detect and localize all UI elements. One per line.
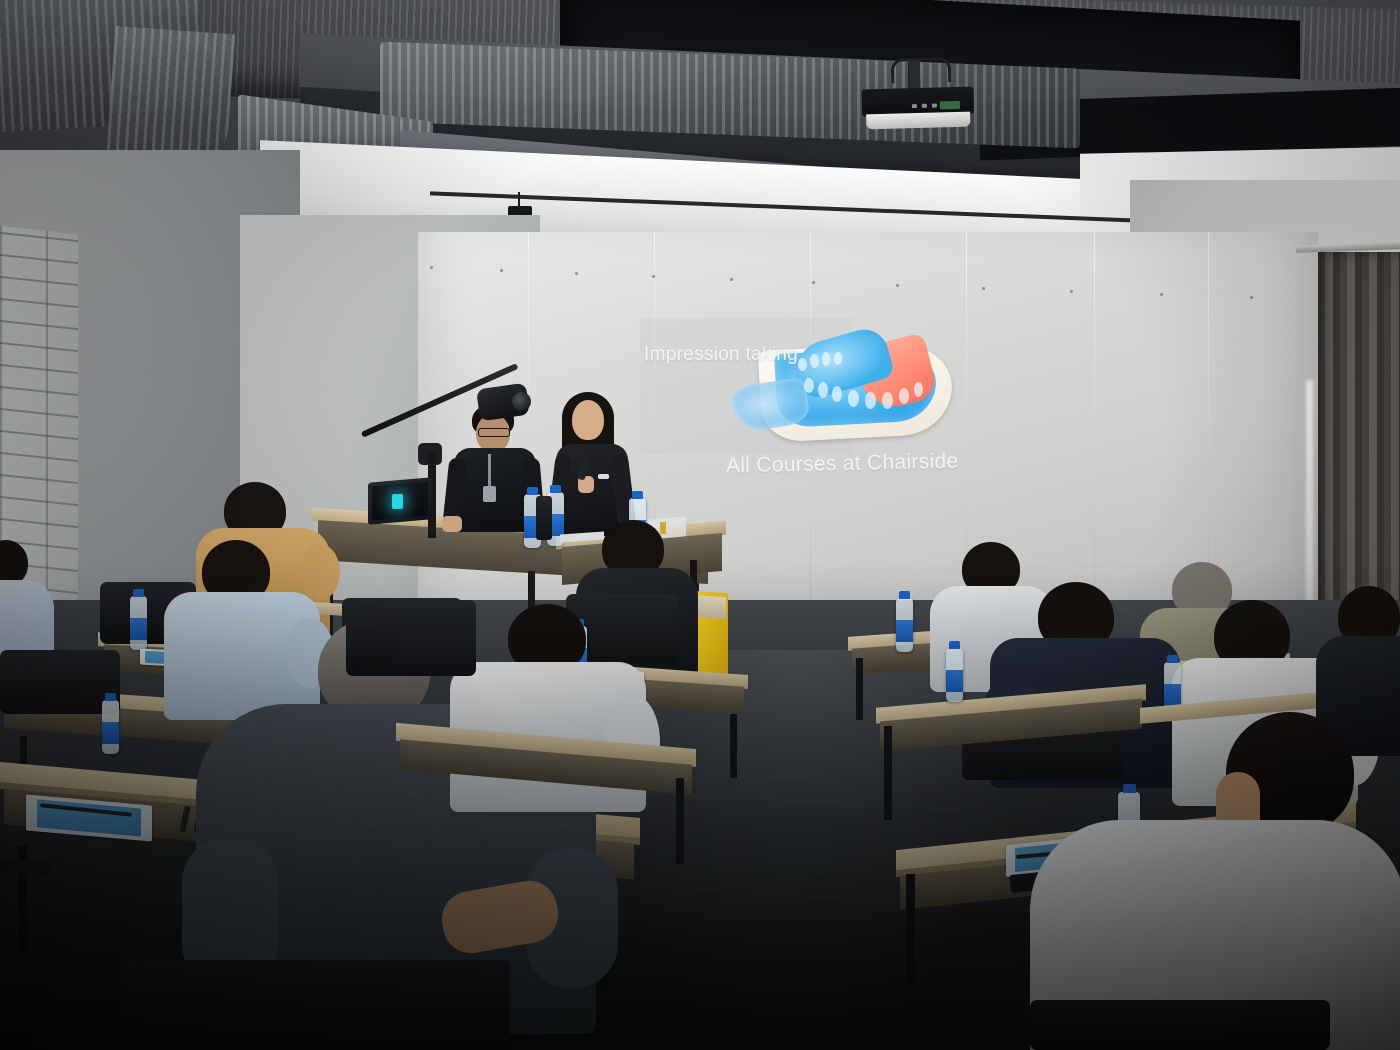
chair-foreground: [120, 960, 510, 1050]
thermos-bottle: [536, 496, 552, 540]
classroom-photo-scene: Impression taking All Courses at Chairsi…: [0, 0, 1400, 1050]
projector-indicator-1: [912, 104, 917, 108]
chair-right-front: [1030, 1000, 1330, 1050]
projector-brand-label: [940, 101, 960, 110]
slide-title: Impression taking: [644, 344, 798, 366]
presenter-male-glasses: [478, 428, 510, 437]
supply-item: [660, 522, 666, 534]
camera-lens: [512, 392, 531, 411]
projector-lens-housing: [866, 112, 970, 130]
projected-slide: Impression taking All Courses at Chairsi…: [640, 318, 1002, 488]
water-bottle: [896, 598, 913, 652]
water-bottle: [130, 596, 147, 650]
slide-subtitle: All Courses at Chairside: [726, 450, 959, 479]
projector-mount-arm: [891, 57, 952, 84]
projector-indicator-3: [932, 104, 937, 108]
presenter-female-head: [572, 400, 604, 440]
water-bottle: [946, 648, 963, 702]
presenter-male-hand: [442, 516, 462, 532]
water-bottle: [102, 700, 119, 754]
dental-impression-tray-image: [732, 324, 957, 444]
ceiling-projector: [861, 87, 974, 132]
screen-fasteners: [430, 266, 1310, 269]
chair-center-mid: [346, 600, 476, 676]
presenter-male-badge: [483, 486, 496, 502]
presenter-male-lanyard: [488, 454, 491, 488]
projector-mount-post: [909, 60, 921, 90]
presenter-female-watch: [598, 474, 609, 479]
projector-indicator-2: [922, 104, 927, 108]
laptop-screen-glow: [392, 494, 403, 509]
